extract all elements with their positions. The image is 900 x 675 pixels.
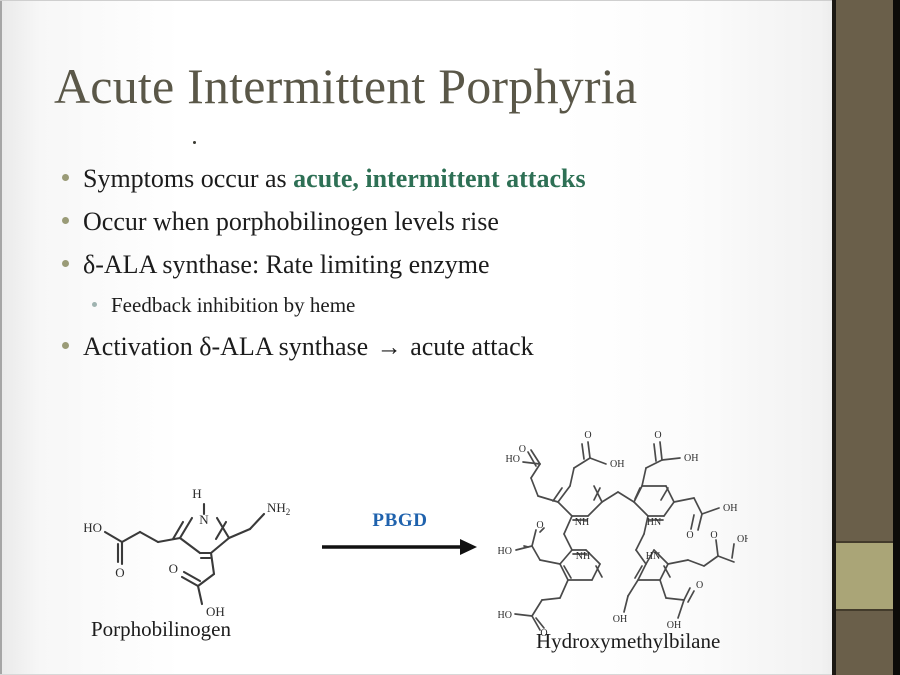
porphobilinogen-structure: H N NH2 HO O O OH <box>84 470 294 625</box>
bullet-item-2: Occur when porphobilinogen levels rise <box>62 206 802 249</box>
label-H: H <box>192 486 201 501</box>
bullet-item-1: Symptoms occur as acute, intermittent at… <box>62 163 802 206</box>
label-N: N <box>199 512 209 527</box>
bullet-marker-icon <box>62 217 69 224</box>
bullet-text-1-plain: Symptoms occur as <box>83 164 293 193</box>
label-HN: HN <box>646 551 660 562</box>
bullet-text-1: Symptoms occur as acute, intermittent at… <box>83 163 586 195</box>
bullet-text-4-plain-b: acute attack <box>404 332 534 361</box>
label-O: O <box>710 530 717 541</box>
bullet-text-1-highlight: acute, intermittent attacks <box>293 164 585 193</box>
bullet-marker-icon <box>62 174 69 181</box>
reaction-arrow-group: PBGD <box>320 510 480 563</box>
rightwards-arrow-icon: → <box>375 334 404 361</box>
label-HN: HN <box>647 517 661 528</box>
bullet-text-3-sub-1: Feedback inhibition by heme <box>111 292 355 319</box>
slide-canvas: Acute Intermittent Porphyria Symptoms oc… <box>0 0 900 675</box>
bullet-marker-icon <box>62 342 69 349</box>
label-HO: HO <box>498 546 512 557</box>
sidebar-right-edge <box>893 0 900 675</box>
label-O: O <box>686 530 693 541</box>
label-O-lower: O <box>169 561 178 576</box>
bullet-text-4-plain-a: Activation δ-ALA synthase <box>83 332 375 361</box>
label-O-left: O <box>115 565 124 580</box>
sidebar-block-bottom-rule <box>836 609 894 611</box>
bullet-text-2: Occur when porphobilinogen levels rise <box>83 206 499 238</box>
label-HO: HO <box>506 454 520 465</box>
hydroxymethylbilane-svg: O OH HO O O OH OH O NH HN NH HN HO O <box>498 428 748 638</box>
enzyme-label: PBGD <box>320 510 480 532</box>
bullet-marker-icon <box>62 260 69 267</box>
bullet-text-4: Activation δ-ALA synthase → acute attack <box>83 331 534 364</box>
bullet-item-3: δ-ALA synthase: Rate limiting enzyme <box>62 249 802 292</box>
product-caption: Hydroxymethylbilane <box>536 629 720 654</box>
reaction-arrow-icon <box>320 536 480 558</box>
bullet-item-4: Activation δ-ALA synthase → acute attack <box>62 331 802 374</box>
bullet-text-3: δ-ALA synthase: Rate limiting enzyme <box>83 249 490 281</box>
label-NH: NH <box>575 517 589 528</box>
label-O: O <box>584 430 591 441</box>
porphobilinogen-svg: H N NH2 HO O O OH <box>84 470 294 620</box>
sidebar-accent-block <box>836 543 894 609</box>
bullet-item-3-sub-1: Feedback inhibition by heme <box>62 292 802 331</box>
hydroxymethylbilane-structure: O OH HO O O OH OH O NH HN NH HN HO O <box>498 428 748 643</box>
subbullet-marker-icon <box>92 302 97 307</box>
substrate-caption: Porphobilinogen <box>91 617 231 642</box>
label-OH: OH <box>684 453 698 464</box>
slide-top-border <box>0 0 832 1</box>
label-OH: OH <box>737 534 748 545</box>
label-OH: OH <box>613 614 627 625</box>
bullet-list: Symptoms occur as acute, intermittent at… <box>62 163 802 374</box>
label-O: O <box>536 520 543 531</box>
label-HO: HO <box>498 610 512 621</box>
title-underdot <box>193 141 196 144</box>
label-OH: OH <box>723 503 737 514</box>
label-OH: OH <box>610 459 624 470</box>
label-NH: NH <box>576 551 590 562</box>
label-NH2: NH2 <box>267 500 290 517</box>
label-O: O <box>654 430 661 441</box>
page-title: Acute Intermittent Porphyria <box>54 56 794 116</box>
label-O: O <box>696 580 703 591</box>
label-O: O <box>519 444 526 455</box>
label-HO: HO <box>84 520 102 535</box>
